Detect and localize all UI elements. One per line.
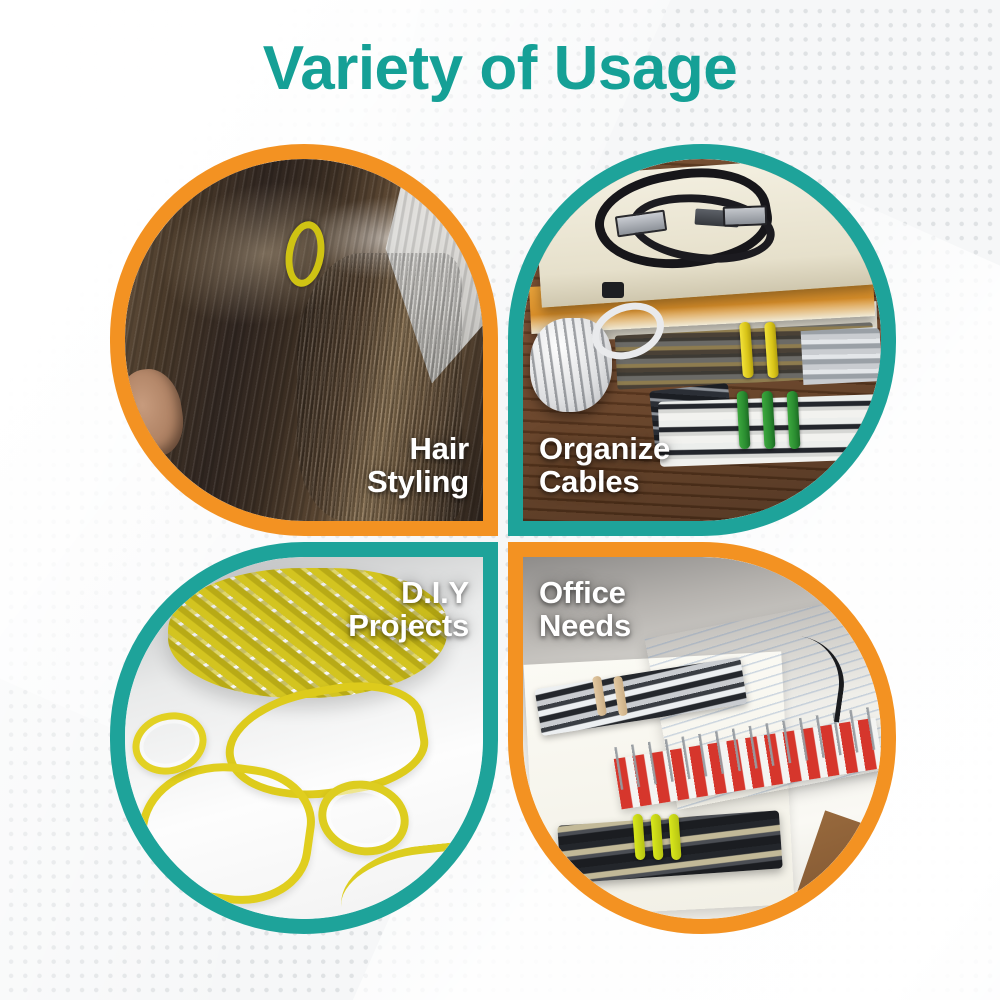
- usage-panel-caption: Office Needs: [539, 577, 631, 643]
- magsafe-connector: [602, 282, 624, 298]
- usage-panel-diy-projects[interactable]: D.I.Y Projects: [110, 542, 498, 934]
- pencil-tips: [801, 327, 881, 385]
- usage-petal-grid: Hair Styling: [110, 144, 896, 934]
- wood-desk-edge: [788, 810, 881, 919]
- usage-panel-hair-styling[interactable]: Hair Styling: [110, 144, 498, 536]
- usage-panel-caption: Organize Cables: [539, 433, 670, 499]
- usb-connector-c: [723, 205, 768, 227]
- infographic-canvas: Variety of Usage Hair Styling: [0, 0, 1000, 1000]
- usage-panel-caption: D.I.Y Projects: [348, 577, 469, 643]
- usage-panel-organize-cables[interactable]: Organize Cables: [508, 144, 896, 536]
- usage-panel-caption: Hair Styling: [367, 433, 469, 499]
- page-title: Variety of Usage: [0, 36, 1000, 101]
- usage-panel-office-needs[interactable]: Office Needs: [508, 542, 896, 934]
